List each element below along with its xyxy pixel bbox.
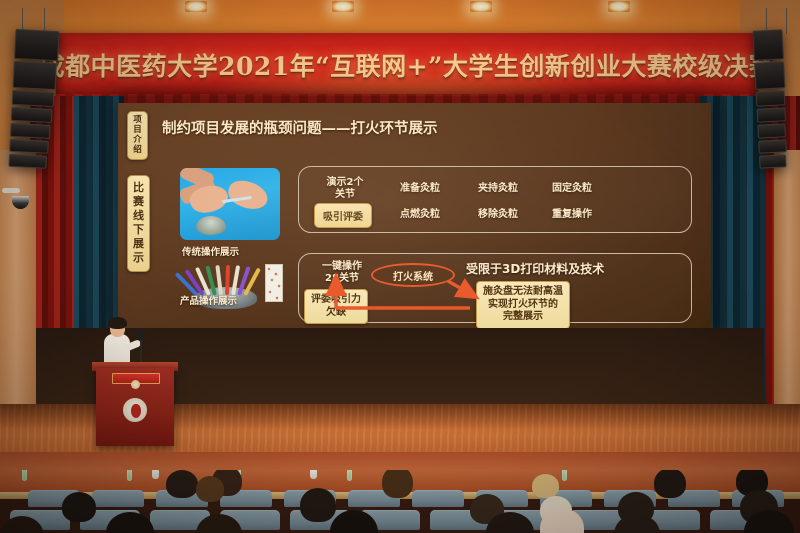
acupoint-patch (265, 264, 283, 302)
slide-tab-offline: 比 赛 线 下 展 示 (127, 175, 150, 272)
tab-offline-char-6: 示 (128, 251, 149, 265)
note-left-line1: 评委吸引力 (311, 294, 361, 305)
one-key-line2: 28关节 (325, 273, 359, 284)
seat (412, 490, 464, 507)
note-right-line1: 施灸盘无法耐高温 (483, 286, 563, 297)
note-right-line3: 完整展示 (503, 311, 543, 322)
seat (92, 490, 144, 507)
tab-intro-char-1: 项 (128, 115, 147, 125)
podium-nameplate (112, 373, 160, 384)
ceiling-band (0, 0, 800, 36)
note-high-temperature: 施灸盘无法耐高温 实现打火环节的 完整展示 (476, 281, 570, 328)
step-ignite: 点燃灸粒 (390, 209, 450, 221)
audience-head (300, 488, 336, 522)
note-right-line2: 实现打火环节的 (488, 299, 558, 310)
tab-offline-char-1: 比 (128, 181, 149, 195)
one-key-line1: 一键操作 (322, 261, 362, 272)
water-bottle (347, 470, 352, 481)
audience-head (196, 476, 224, 502)
tab-offline-char-4: 下 (128, 223, 149, 237)
microphone-icon (136, 330, 144, 340)
audience-head (382, 470, 413, 498)
ignition-system-tag: 打火系统 (371, 263, 455, 287)
downlight-1 (185, 1, 207, 12)
audience-head (532, 474, 559, 498)
downlight-3 (470, 1, 492, 12)
downlight-2 (332, 1, 354, 12)
podium (96, 368, 174, 446)
traditional-operation-caption: 传统操作展示 (182, 244, 239, 258)
banner-title: 成都中医药大学2021年“互联网+”大学生创新创业大赛校级决赛 (39, 47, 774, 83)
audience-head (62, 492, 96, 522)
paper-cup (310, 470, 317, 479)
slide-tab-intro: 项 目 介 绍 (127, 111, 148, 160)
step-demo-joints-line1: 演示2个 (327, 177, 364, 188)
water-bottle (562, 470, 567, 481)
step-remove: 移除灸粒 (468, 209, 528, 221)
line-array-speaker-left (8, 29, 59, 169)
tab-intro-char-3: 介 (128, 135, 147, 145)
tab-offline-char-2: 赛 (128, 195, 149, 209)
tab-offline-char-5: 展 (128, 237, 149, 251)
step-fix: 固定灸粒 (542, 183, 602, 195)
event-banner: 成都中医药大学2021年“互联网+”大学生创新创业大赛校级决赛 (56, 33, 759, 96)
tab-offline-char-3: 线 (128, 209, 149, 223)
product-operation-caption: 产品操作展示 (180, 293, 237, 307)
audience-head (166, 470, 198, 498)
limitation-text: 受限于3D打印材料及技术 (466, 260, 604, 277)
podium-emblem-icon (123, 398, 147, 422)
water-bottle (127, 470, 132, 481)
traditional-operation-photo (180, 168, 280, 240)
rigging-wire-right-b (786, 8, 787, 34)
chip-attract-judges: 吸引评委 (314, 203, 372, 228)
slide-title: 制约项目发展的瓶颈问题——打火环节展示 (162, 117, 438, 138)
step-demo-joints: 演示2个 关节 (314, 177, 376, 201)
presenter-hair (108, 317, 127, 329)
label-one-key-operation: 一键操作 28关节 (310, 261, 374, 285)
paper-cup (152, 470, 159, 479)
step-repeat: 重复操作 (542, 209, 602, 221)
camera-mount-arm (2, 188, 20, 193)
downlight-4 (608, 1, 630, 12)
tab-intro-char-4: 绍 (128, 145, 147, 155)
university-logo-icon (131, 380, 140, 389)
tab-intro-char-2: 目 (128, 125, 147, 135)
projection-screen: 制约项目发展的瓶颈问题——打火环节展示 项 目 介 绍 比 赛 线 下 展 示 … (118, 103, 711, 328)
auditorium-scene: 成都中医药大学2021年“互联网+”大学生创新创业大赛校级决赛 制约项目发展的瓶… (0, 0, 800, 533)
note-left-line2: 欠缺 (326, 307, 346, 318)
step-prepare: 准备灸粒 (390, 183, 450, 195)
audience-area (0, 470, 800, 533)
water-bottle (22, 470, 27, 481)
audience-head (654, 470, 686, 498)
step-clamp: 夹持灸粒 (468, 183, 528, 195)
step-demo-joints-line2: 关节 (335, 189, 355, 200)
note-judge-appeal: 评委吸引力 欠缺 (304, 289, 368, 324)
